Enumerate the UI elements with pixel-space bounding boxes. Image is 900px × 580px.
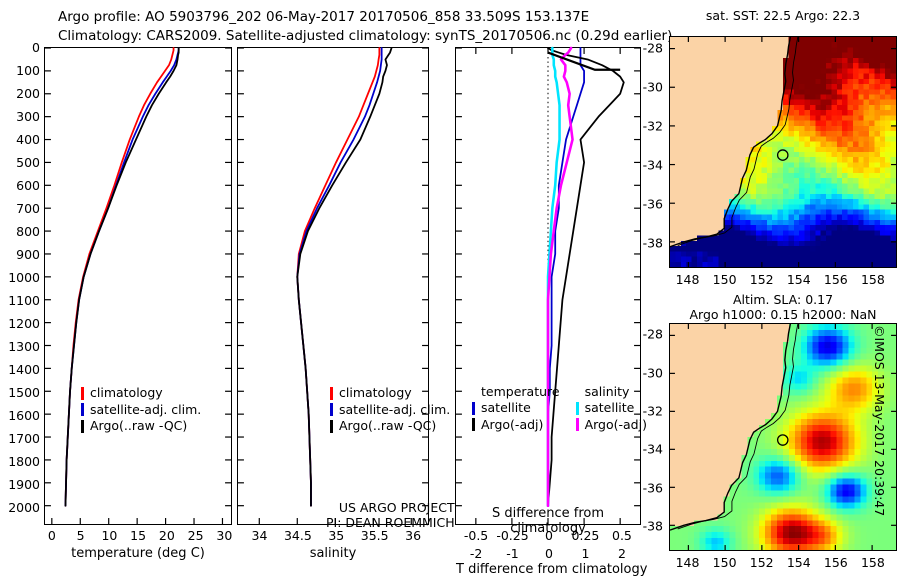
sla-map-title: Altim. SLA: 0.17 Argo h1000: 0.15 h2000:… xyxy=(669,292,897,322)
sla-title-line2: Argo h1000: 0.15 h2000: NaN xyxy=(669,307,897,322)
map-longitude-tick-label: 156 xyxy=(824,555,848,570)
t-difference-tick-label: -2 xyxy=(470,548,482,560)
map-latitude-tick-label: -32 xyxy=(633,404,663,419)
legend-color-swatch xyxy=(472,418,475,431)
legend-item: Argo(-adj) xyxy=(472,417,560,434)
legend-label: satellite xyxy=(481,400,531,417)
credit-pi: PI: DEAN ROEMMICH xyxy=(326,515,455,530)
legend-color-swatch xyxy=(472,402,475,415)
sst-map-canvas xyxy=(670,37,896,267)
t-difference-tick-label: -1 xyxy=(506,548,518,560)
map-longitude-tick-label: 158 xyxy=(861,272,885,287)
t-difference-tick-label: 1 xyxy=(581,548,589,560)
header-line-profile: Argo profile: AO 5903796_202 06-May-2017… xyxy=(58,8,678,27)
sst-map[interactable] xyxy=(669,36,897,268)
temperature-tick-label: 30 xyxy=(216,530,232,542)
depth-tick-label: 0 xyxy=(32,43,40,53)
legend-label: Argo(..raw -QC) xyxy=(90,418,187,435)
depth-tick-label: 2000 xyxy=(8,503,40,513)
map-latitude-tick-label: -32 xyxy=(633,118,663,133)
legend-color-swatch xyxy=(81,403,84,416)
salinity-profile-plot xyxy=(238,48,428,524)
map-longitude-tick-label: 150 xyxy=(713,555,737,570)
depth-tick-label: 1500 xyxy=(8,388,40,398)
salinity-tick-label: 35 xyxy=(328,530,344,542)
map-longitude-tick-label: 156 xyxy=(824,272,848,287)
legend-label: Argo(-adj) xyxy=(481,417,543,434)
t-difference-axis-title: T difference from climatology xyxy=(456,562,640,577)
legend-label: satellite-adj. clim. xyxy=(90,402,201,419)
depth-tick-label: 300 xyxy=(16,112,40,122)
map-longitude-tick-label: 158 xyxy=(861,555,885,570)
temperature-tick-label: 15 xyxy=(130,530,146,542)
project-credits: US ARGO PROJECT PI: DEAN ROEMMICH xyxy=(326,500,455,530)
legend-label: climatology xyxy=(90,385,163,402)
map-latitude-tick-label: -30 xyxy=(633,365,663,380)
depth-tick-label: 200 xyxy=(16,89,40,99)
legend-label: Argo(..raw -QC) xyxy=(339,418,436,435)
legend-color-swatch xyxy=(81,420,84,433)
depth-tick-label: 1600 xyxy=(8,411,40,421)
map-longitude-tick-label: 152 xyxy=(750,272,774,287)
temperature-tick-label: 0 xyxy=(48,530,56,542)
map-longitude-tick-label: 154 xyxy=(787,555,811,570)
salinity-axis-title: salinity xyxy=(238,546,428,561)
depth-tick-label: 1000 xyxy=(8,273,40,283)
salinity-profile-panel[interactable]: 3434.53535.536 salinity climatologysatel… xyxy=(237,47,429,525)
sla-map[interactable] xyxy=(669,323,897,551)
legend-column: temperaturesatelliteArgo(-adj) xyxy=(472,384,560,433)
depth-tick-label: 1400 xyxy=(8,365,40,375)
legend-color-swatch xyxy=(576,402,579,415)
temperature-axis-title: temperature (deg C) xyxy=(45,546,231,561)
t-difference-tick-label: 0 xyxy=(545,548,553,560)
legend-label: climatology xyxy=(339,385,412,402)
depth-tick-label: 800 xyxy=(16,227,40,237)
depth-tick-label: 1900 xyxy=(8,480,40,490)
temperature-legend: climatologysatellite-adj. clim.Argo(..ra… xyxy=(81,385,201,435)
depth-tick-label: 400 xyxy=(16,135,40,145)
map-latitude-tick-label: -36 xyxy=(633,196,663,211)
legend-color-swatch xyxy=(330,403,333,416)
legend-item: satellite-adj. clim. xyxy=(81,402,201,419)
map-latitude-tick-label: -34 xyxy=(633,442,663,457)
salinity-tick-label: 34.5 xyxy=(284,530,312,542)
map-latitude-tick-label: -30 xyxy=(633,79,663,94)
salinity-tick-label: 36 xyxy=(405,530,421,542)
difference-profile-plot xyxy=(456,48,640,524)
temperature-profile-panel[interactable]: 0100200300400500600700800900100011001200… xyxy=(44,47,232,525)
sla-map-canvas xyxy=(670,324,896,550)
depth-tick-label: 1700 xyxy=(8,434,40,444)
legend-label: satellite xyxy=(585,400,635,417)
s-difference-axis-title: S difference from climatology xyxy=(455,506,641,536)
credit-project: US ARGO PROJECT xyxy=(326,500,455,515)
depth-tick-label: 900 xyxy=(16,250,40,260)
header-line-climatology: Climatology: CARS2009. Satellite-adjuste… xyxy=(58,27,678,46)
legend-color-swatch xyxy=(330,420,333,433)
difference-profile-panel[interactable]: -2-1012 -0.5-0.2500.250.5 T difference f… xyxy=(455,47,641,525)
depth-tick-label: 100 xyxy=(16,66,40,76)
map-latitude-tick-label: -28 xyxy=(633,40,663,55)
depth-tick-label: 1300 xyxy=(8,342,40,352)
sst-map-title: sat. SST: 22.5 Argo: 22.3 xyxy=(669,8,897,23)
legend-label: satellite-adj. clim. xyxy=(339,402,450,419)
salinity-tick-label: 34 xyxy=(252,530,268,542)
legend-item: satellite xyxy=(472,400,560,417)
map-latitude-tick-label: -38 xyxy=(633,519,663,534)
legend-item: Argo(-adj) xyxy=(576,417,647,434)
legend-column-header: salinity xyxy=(585,384,647,400)
map-longitude-tick-label: 152 xyxy=(750,555,774,570)
temperature-tick-label: 20 xyxy=(159,530,175,542)
legend-item: climatology xyxy=(81,385,201,402)
salinity-tick-label: 35.5 xyxy=(361,530,389,542)
temperature-tick-label: 5 xyxy=(77,530,85,542)
legend-column-header: temperature xyxy=(481,384,560,400)
depth-tick-label: 1100 xyxy=(8,296,40,306)
map-latitude-tick-label: -36 xyxy=(633,480,663,495)
legend-label: Argo(-adj) xyxy=(585,417,647,434)
map-longitude-tick-label: 150 xyxy=(713,272,737,287)
map-latitude-tick-label: -28 xyxy=(633,327,663,342)
map-longitude-tick-label: 148 xyxy=(676,272,700,287)
map-latitude-tick-label: -34 xyxy=(633,157,663,172)
sla-title-line1: Altim. SLA: 0.17 xyxy=(669,292,897,307)
depth-tick-label: 500 xyxy=(16,158,40,168)
copyright-label: ©IMOS 13-May-2017 20:39:47 xyxy=(872,325,887,545)
temperature-tick-label: 10 xyxy=(101,530,117,542)
map-latitude-tick-label: -38 xyxy=(633,235,663,250)
plot-header: Argo profile: AO 5903796_202 06-May-2017… xyxy=(58,8,678,46)
depth-tick-label: 1800 xyxy=(8,457,40,467)
temperature-profile-plot xyxy=(45,48,231,524)
depth-tick-label: 700 xyxy=(16,204,40,214)
t-difference-tick-label: 2 xyxy=(618,548,626,560)
legend-color-swatch xyxy=(576,418,579,431)
legend-item: Argo(..raw -QC) xyxy=(330,418,450,435)
legend-item: satellite-adj. clim. xyxy=(330,402,450,419)
legend-item: climatology xyxy=(330,385,450,402)
legend-item: Argo(..raw -QC) xyxy=(81,418,201,435)
legend-color-swatch xyxy=(330,387,333,400)
legend-color-swatch xyxy=(81,387,84,400)
map-longitude-tick-label: 148 xyxy=(676,555,700,570)
salinity-legend: climatologysatellite-adj. clim.Argo(..ra… xyxy=(330,385,450,435)
depth-tick-label: 1200 xyxy=(8,319,40,329)
difference-legend: temperaturesatelliteArgo(-adj)salinitysa… xyxy=(472,384,647,433)
depth-tick-label: 600 xyxy=(16,181,40,191)
map-longitude-tick-label: 154 xyxy=(787,272,811,287)
temperature-tick-label: 25 xyxy=(188,530,204,542)
